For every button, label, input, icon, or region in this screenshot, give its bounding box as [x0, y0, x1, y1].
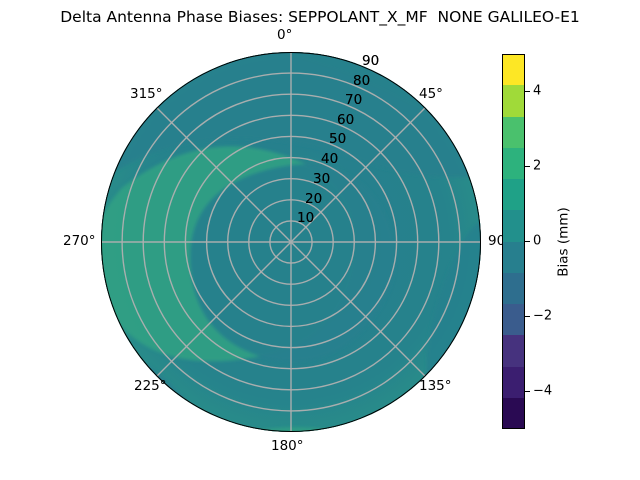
radial-tick-20: 20	[305, 191, 322, 207]
colorbar-tickmark	[525, 91, 530, 92]
angular-tick-135: 135°	[419, 378, 452, 394]
colorbar-ticklabel-2: 2	[533, 159, 541, 174]
colorbar-band	[502, 210, 525, 241]
polar-grid	[101, 52, 481, 432]
colorbar-tickmark	[525, 391, 530, 392]
radial-tick-70: 70	[345, 92, 362, 108]
colorbar-ticklabel-4: 4	[533, 84, 541, 99]
polar-data-field	[101, 52, 481, 432]
angular-tick-225: 225°	[134, 378, 167, 394]
colorbar-band	[502, 273, 525, 304]
colorbar-band	[502, 148, 525, 179]
angular-tick-0: 0°	[277, 27, 292, 43]
radial-tick-40: 40	[321, 151, 338, 167]
colorbar-gradient	[502, 54, 525, 429]
colorbar-band	[502, 398, 525, 429]
colorbar-ticklabel-n2: −2	[533, 309, 552, 324]
radial-tick-10: 10	[297, 210, 314, 226]
polar-axes[interactable]: 10 20 30 40 50 60 70 80 90	[101, 52, 481, 432]
radial-tick-60: 60	[337, 112, 354, 128]
colorbar-band	[502, 85, 525, 116]
colorbar-ticklabel-n4: −4	[533, 384, 552, 399]
radial-tick-30: 30	[313, 171, 330, 187]
colorbar-band	[502, 179, 525, 210]
radial-tick-80: 80	[353, 73, 370, 89]
colorbar-band	[502, 304, 525, 335]
colorbar-band	[502, 367, 525, 398]
angular-tick-180: 180°	[271, 438, 304, 454]
radial-tick-50: 50	[329, 131, 346, 147]
colorbar-ticklabel-0: 0	[533, 234, 541, 249]
radial-tick-90: 90	[362, 53, 379, 69]
colorbar[interactable]: 4 2 0 −2 −4	[502, 54, 525, 429]
colorbar-band	[502, 117, 525, 148]
colorbar-axis-label-text: Bias (mm)	[556, 207, 572, 276]
colorbar-band	[502, 54, 525, 85]
page-title: Delta Antenna Phase Biases: SEPPOLANT_X_…	[0, 8, 640, 26]
colorbar-band	[502, 242, 525, 273]
colorbar-tickmark	[525, 316, 530, 317]
colorbar-axis-label: Bias (mm)	[555, 54, 573, 429]
colorbar-band	[502, 335, 525, 366]
angular-tick-45: 45°	[419, 86, 443, 102]
colorbar-tickmark	[525, 241, 530, 242]
figure-canvas: Delta Antenna Phase Biases: SEPPOLANT_X_…	[0, 0, 640, 480]
angular-tick-315: 315°	[130, 86, 163, 102]
colorbar-tickmark	[525, 166, 530, 167]
angular-tick-270: 270°	[63, 233, 96, 249]
